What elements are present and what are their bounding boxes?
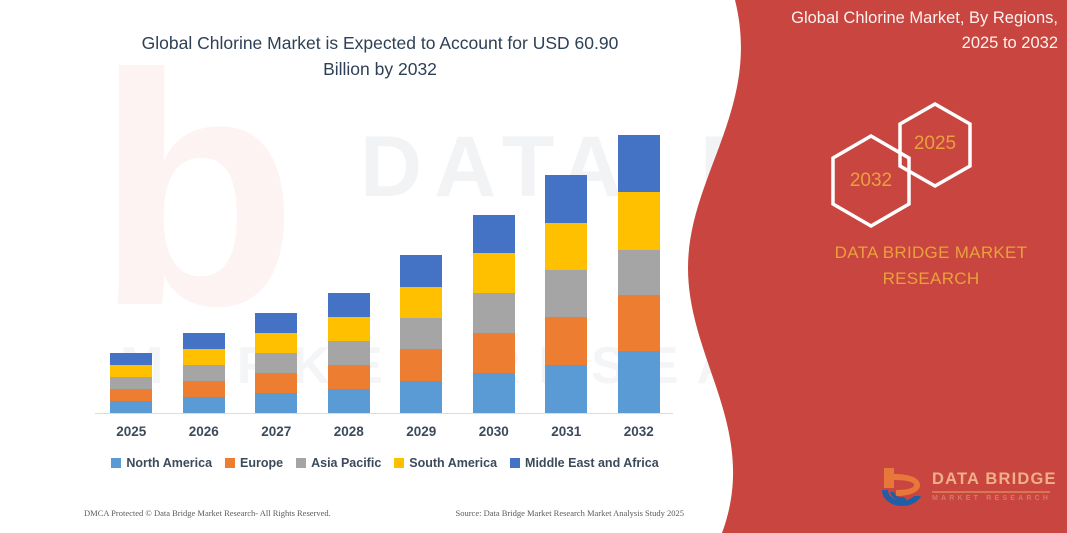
bar-segment: [473, 333, 515, 373]
panel-brand-line1: DATA BRIDGE MARKET: [795, 240, 1067, 266]
legend-item[interactable]: South America: [394, 456, 497, 470]
bar-segment: [183, 333, 225, 349]
footer-source: Source: Data Bridge Market Research Mark…: [455, 508, 684, 518]
panel-title: Global Chlorine Market, By Regions, 2025…: [742, 6, 1058, 56]
bar-segment: [255, 353, 297, 373]
logo-divider: [932, 491, 1050, 493]
hexagon-badges: 2025 2032: [826, 100, 986, 210]
stacked-bar-chart: [95, 120, 675, 413]
legend-swatch-icon: [225, 458, 235, 468]
bar-segment: [255, 373, 297, 393]
chart-baseline: [95, 413, 673, 414]
bar-column-2029: [385, 120, 458, 413]
data-bridge-logo-text: DATA BRIDGE MARKET RESEARCH: [932, 470, 1057, 502]
bar-segment: [545, 270, 587, 317]
x-axis-label-2026: 2026: [168, 424, 241, 439]
bar-segment: [183, 397, 225, 413]
bar-segment: [618, 250, 660, 295]
stacked-bar-2032: [618, 135, 660, 413]
bar-column-2027: [240, 120, 313, 413]
footer: DMCA Protected © Data Bridge Market Rese…: [84, 508, 684, 518]
data-bridge-logo-mark-icon: [880, 466, 926, 510]
bar-segment: [328, 317, 370, 341]
bar-segment: [473, 215, 515, 253]
x-axis-label-2031: 2031: [530, 424, 603, 439]
legend-swatch-icon: [510, 458, 520, 468]
x-axis-label-2032: 2032: [603, 424, 676, 439]
hexagon-badge-2032: 2032: [826, 132, 916, 230]
bar-segment: [255, 313, 297, 333]
stacked-bar-2029: [400, 255, 442, 413]
bar-segment: [400, 349, 442, 381]
bar-segment: [110, 377, 152, 389]
x-axis-labels: 20252026202720282029203020312032: [95, 424, 675, 439]
legend-item[interactable]: Middle East and Africa: [510, 456, 659, 470]
bar-column-2032: [603, 120, 676, 413]
bar-column-2026: [168, 120, 241, 413]
chart-title: Global Chlorine Market is Expected to Ac…: [120, 30, 640, 82]
legend-label: North America: [126, 456, 212, 470]
stacked-bar-2026: [183, 333, 225, 413]
x-axis-label-2030: 2030: [458, 424, 531, 439]
legend-swatch-icon: [394, 458, 404, 468]
bar-segment: [473, 373, 515, 413]
chart-legend: North AmericaEuropeAsia PacificSouth Ame…: [95, 456, 675, 470]
bar-segment: [400, 318, 442, 349]
bar-column-2031: [530, 120, 603, 413]
bar-segment: [328, 341, 370, 365]
data-bridge-logo: DATA BRIDGE MARKET RESEARCH: [880, 466, 1060, 514]
bar-segment: [328, 293, 370, 317]
legend-item[interactable]: North America: [111, 456, 212, 470]
logo-subtitle: MARKET RESEARCH: [932, 495, 1057, 502]
bar-segment: [545, 175, 587, 223]
legend-label: South America: [409, 456, 497, 470]
bar-segment: [328, 389, 370, 413]
bar-segment: [545, 365, 587, 413]
bar-segment: [110, 353, 152, 365]
bar-segment: [400, 381, 442, 413]
x-axis-label-2028: 2028: [313, 424, 386, 439]
bar-segment: [545, 317, 587, 365]
bar-segment: [255, 393, 297, 413]
stacked-bar-2025: [110, 353, 152, 413]
bar-segment: [400, 255, 442, 287]
bar-segment: [473, 293, 515, 333]
infographic-canvas: b DATA BRIDGE MARKET RESEARCH Global Chl…: [0, 0, 1067, 533]
stacked-bar-2027: [255, 313, 297, 413]
legend-label: Asia Pacific: [311, 456, 381, 470]
bar-segment: [183, 381, 225, 397]
panel-title-line1: Global Chlorine Market, By Regions,: [742, 6, 1058, 31]
bar-segment: [545, 223, 587, 270]
panel-brand-line2: RESEARCH: [795, 266, 1067, 292]
bar-segment: [473, 253, 515, 293]
stacked-bar-2031: [545, 175, 587, 413]
bar-segment: [618, 295, 660, 351]
panel-brand: DATA BRIDGE MARKET RESEARCH: [795, 240, 1067, 292]
x-axis-label-2025: 2025: [95, 424, 168, 439]
footer-copyright: DMCA Protected © Data Bridge Market Rese…: [84, 508, 331, 518]
bar-segment: [328, 365, 370, 389]
bar-segment: [183, 349, 225, 365]
legend-item[interactable]: Europe: [225, 456, 283, 470]
stacked-bar-2028: [328, 293, 370, 413]
x-axis-label-2029: 2029: [385, 424, 458, 439]
logo-title: DATA BRIDGE: [932, 470, 1057, 489]
bar-segment: [110, 389, 152, 401]
bar-column-2030: [458, 120, 531, 413]
bar-column-2025: [95, 120, 168, 413]
bar-segment: [110, 401, 152, 413]
panel-title-line2: 2025 to 2032: [742, 31, 1058, 56]
bar-segment: [183, 365, 225, 381]
hexagon-label-2032: 2032: [826, 170, 916, 192]
bar-segment: [618, 135, 660, 192]
stacked-bar-2030: [473, 215, 515, 413]
legend-label: Middle East and Africa: [525, 456, 659, 470]
bar-segment: [110, 365, 152, 377]
legend-item[interactable]: Asia Pacific: [296, 456, 381, 470]
bar-segment: [255, 333, 297, 353]
bar-segment: [618, 351, 660, 413]
bar-segment: [400, 287, 442, 318]
bar-segment: [618, 192, 660, 250]
legend-label: Europe: [240, 456, 283, 470]
bar-column-2028: [313, 120, 386, 413]
legend-swatch-icon: [111, 458, 121, 468]
legend-swatch-icon: [296, 458, 306, 468]
x-axis-label-2027: 2027: [240, 424, 313, 439]
